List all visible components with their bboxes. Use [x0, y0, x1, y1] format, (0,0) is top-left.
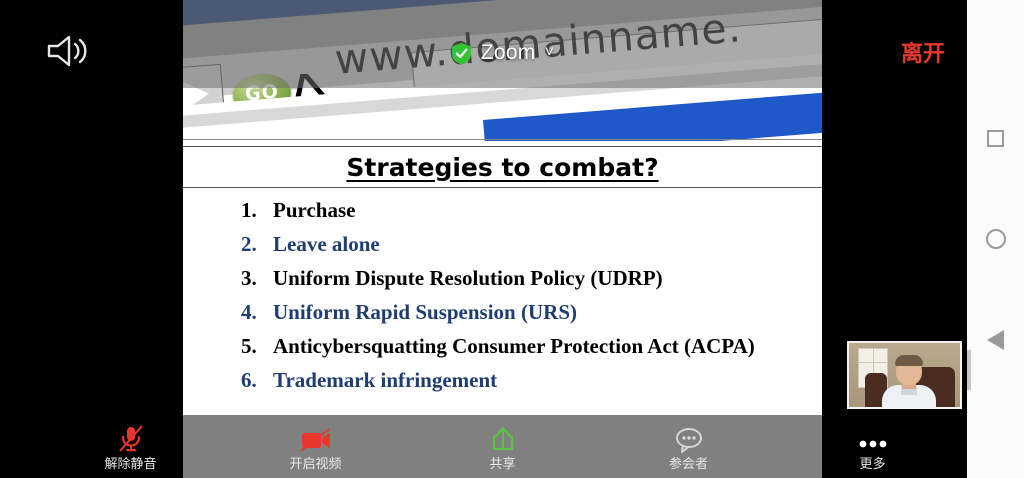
list-item-text: Purchase: [273, 198, 355, 223]
self-video-thumbnail[interactable]: [847, 341, 962, 409]
verified-shield-icon: [451, 42, 472, 65]
back-triangle-icon: [987, 330, 1004, 350]
scroll-hint: [967, 350, 971, 390]
participants-chat-icon: [673, 424, 705, 454]
list-item-number: 4.: [241, 300, 273, 325]
list-item: 2. Leave alone: [183, 232, 822, 266]
participants-button-label: 参会者: [669, 457, 708, 470]
list-item: 6. Trademark infringement: [183, 368, 822, 402]
meeting-toolbar: 解除静音 开启视频 共享: [0, 415, 1024, 478]
list-item-number: 3.: [241, 266, 273, 291]
recents-square-icon: [987, 130, 1004, 147]
more-ellipsis-icon: [855, 424, 891, 454]
list-item: 1. Purchase: [183, 198, 822, 232]
more-button-label: 更多: [859, 457, 885, 470]
list-item-text: Uniform Dispute Resolution Policy (UDRP): [273, 266, 663, 291]
list-item-text: Anticybersquatting Consumer Protection A…: [273, 334, 755, 359]
back-button[interactable]: [967, 290, 1024, 391]
participants-button[interactable]: 参会者: [596, 415, 781, 478]
unmute-button-label: 解除静音: [104, 457, 156, 470]
list-item-text: Leave alone: [273, 232, 380, 257]
zoom-meeting-screen: www.domainname. GO Strategies to combat?…: [0, 0, 1024, 478]
list-item-number: 2.: [241, 232, 273, 257]
share-upload-icon: [488, 424, 518, 454]
list-item-number: 6.: [241, 368, 273, 393]
recents-button[interactable]: [967, 88, 1024, 189]
more-button[interactable]: 更多: [780, 415, 965, 478]
microphone-muted-icon: [116, 424, 146, 454]
leave-meeting-button[interactable]: 离开: [901, 36, 945, 68]
video-camera-off-icon: [299, 424, 333, 454]
list-item: 5. Anticybersquatting Consumer Protectio…: [183, 334, 822, 368]
thumbnail-person-hair: [895, 355, 923, 366]
slide-browser-photo: www.domainname. GO: [183, 0, 822, 141]
slide-top-rule: [183, 139, 822, 140]
shared-screen-stage[interactable]: www.domainname. GO Strategies to combat?…: [183, 0, 822, 478]
home-circle-icon: [986, 229, 1006, 249]
list-item: 4. Uniform Rapid Suspension (URS): [183, 300, 822, 334]
list-item-number: 1.: [241, 198, 273, 223]
start-video-button-label: 开启视频: [289, 457, 341, 470]
share-button-label: 共享: [489, 457, 515, 470]
unmute-button[interactable]: 解除静音: [38, 415, 223, 478]
start-video-button[interactable]: 开启视频: [223, 415, 408, 478]
list-item-text: Trademark infringement: [273, 368, 497, 393]
android-navigation-bar: [967, 0, 1024, 478]
speaker-volume-icon[interactable]: [45, 33, 97, 69]
top-bar-right-fill: [822, 0, 967, 88]
share-button[interactable]: 共享: [410, 415, 595, 478]
slide-title: Strategies to combat?: [183, 147, 822, 187]
list-item: 3. Uniform Dispute Resolution Policy (UD…: [183, 266, 822, 300]
meeting-title-dropdown[interactable]: Zoom ˅: [183, 38, 822, 68]
list-item-text: Uniform Rapid Suspension (URS): [273, 300, 577, 325]
list-item-number: 5.: [241, 334, 273, 359]
chevron-down-icon: ˅: [545, 44, 555, 62]
slide-numbered-list: 1. Purchase 2. Leave alone 3. Uniform Di…: [183, 198, 822, 402]
slide-title-band: Strategies to combat?: [183, 146, 822, 188]
meeting-title-label: Zoom: [481, 41, 536, 65]
home-button[interactable]: [967, 189, 1024, 290]
